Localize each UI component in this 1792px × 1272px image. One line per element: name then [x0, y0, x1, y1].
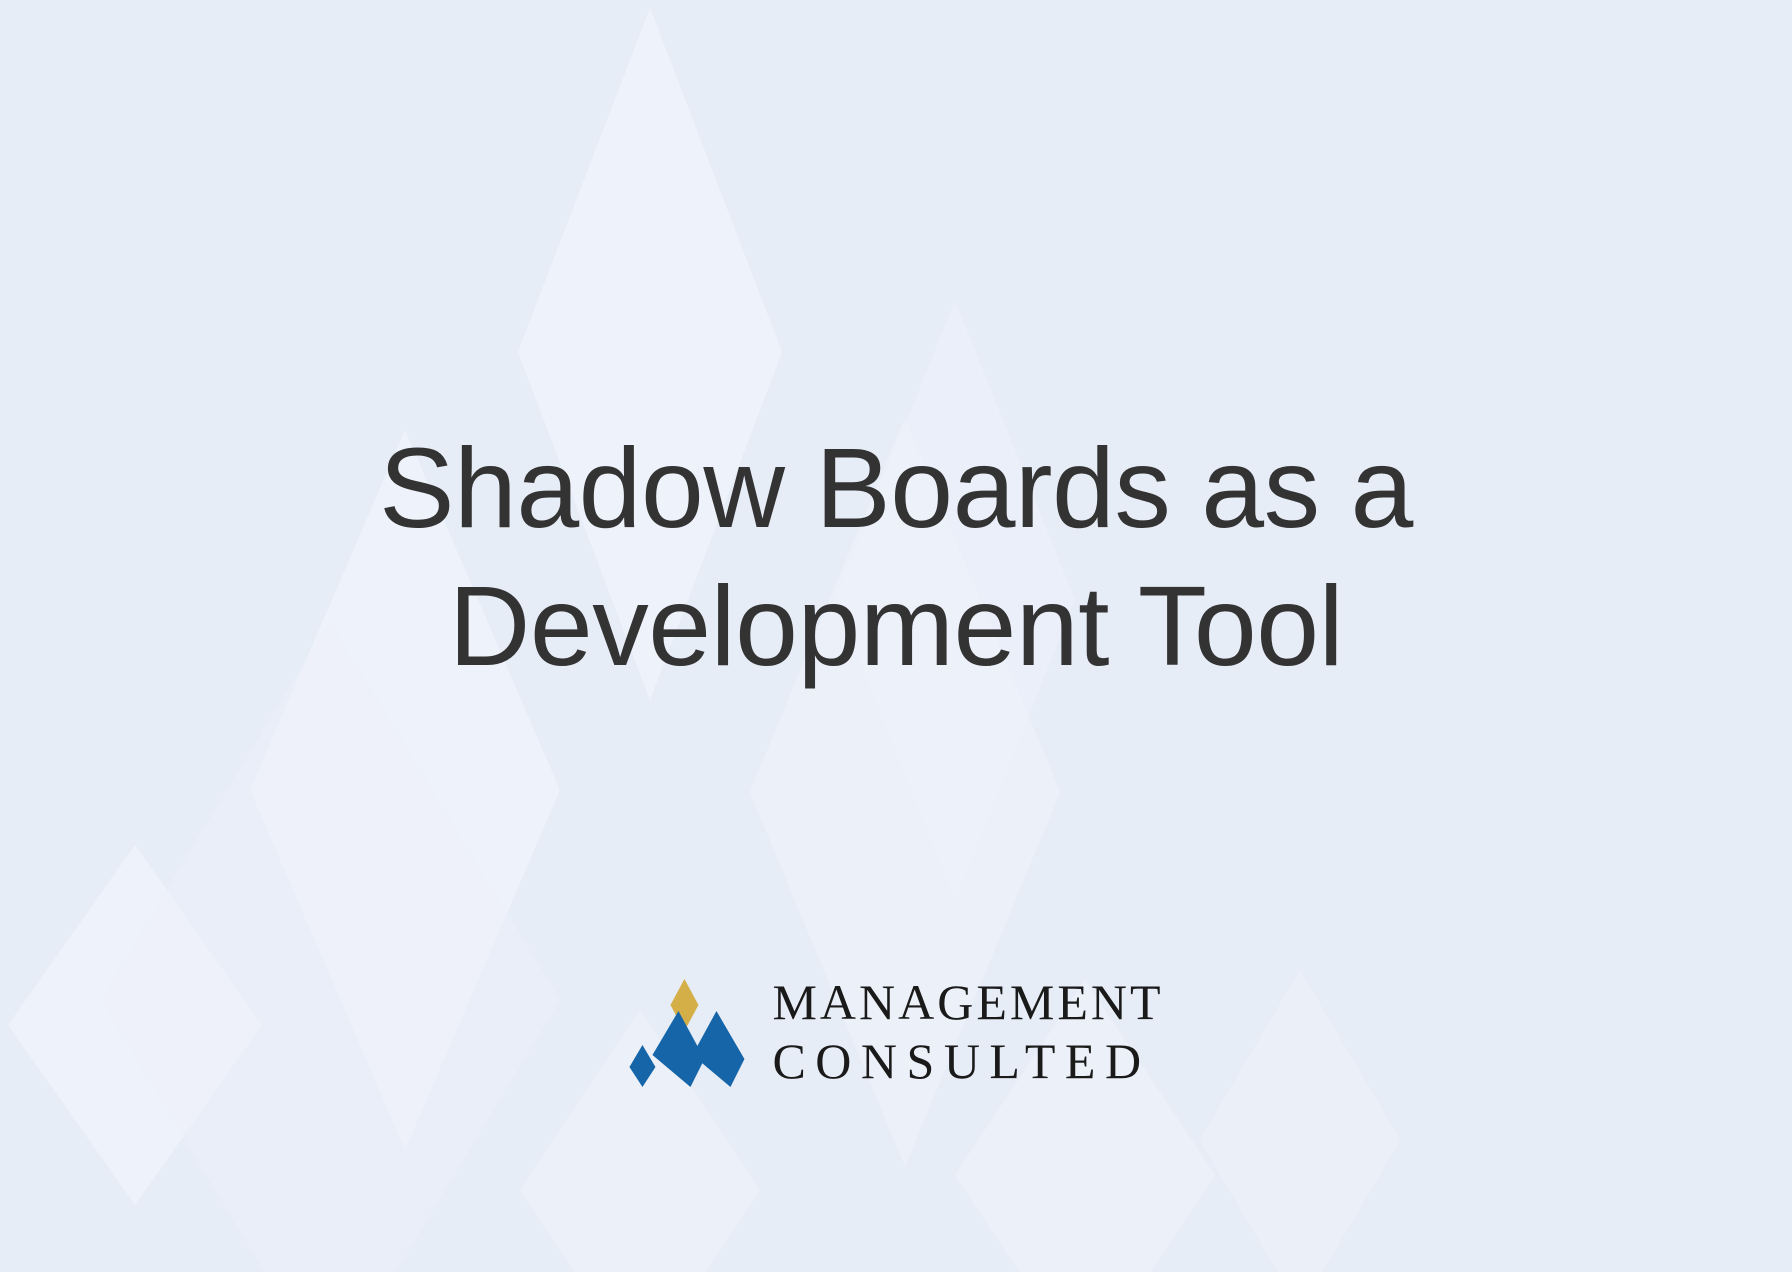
wordmark-line-consulted: CONSULTED [772, 1036, 1150, 1086]
brand-logo: MANAGEMENT CONSULTED [628, 975, 1163, 1087]
right-blue-diamond-shape [692, 1011, 744, 1087]
title-slide: Shadow Boards as a Development Tool MANA… [0, 0, 1792, 1272]
small-blue-diamond-shape [629, 1045, 655, 1087]
page-title: Shadow Boards as a Development Tool [96, 420, 1696, 696]
wordmark: MANAGEMENT CONSULTED [772, 977, 1163, 1086]
wordmark-line-management: MANAGEMENT [772, 977, 1163, 1027]
diamond-mark-icon [628, 975, 746, 1087]
